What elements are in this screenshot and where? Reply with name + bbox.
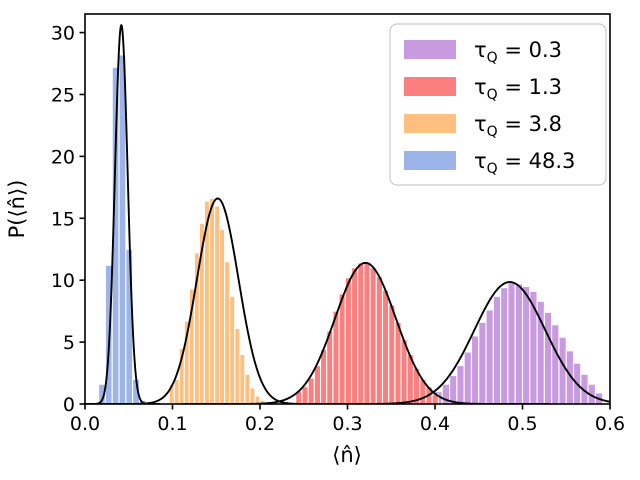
histogram-bar [245, 374, 250, 404]
histogram-bar [339, 294, 345, 404]
histogram-plot: 0.00.10.20.30.40.50.6 051015202530 ⟨n̂⟩ … [0, 0, 640, 480]
histogram-bar [333, 311, 339, 404]
y-axis-label: P(⟨n̂⟩) [5, 180, 29, 239]
histogram-bar [240, 354, 245, 404]
histogram-bar [464, 352, 471, 404]
histogram-bar [358, 263, 364, 404]
histogram-bar [501, 288, 508, 404]
histogram-bar [508, 283, 515, 404]
histogram-bar [523, 286, 530, 404]
histogram-bar [544, 312, 551, 404]
y-tick-label: 0 [63, 394, 75, 416]
histogram-bar [302, 387, 308, 404]
histogram-bar [321, 350, 327, 404]
histogram-bar [479, 322, 486, 404]
x-tick-label: 0.4 [420, 413, 450, 435]
histogram-bar [126, 249, 133, 404]
y-tick-label: 30 [51, 23, 75, 45]
legend-swatch [404, 114, 456, 133]
histogram-bar [230, 296, 235, 404]
histogram-bar [552, 325, 559, 404]
legend[interactable]: τQ = 0.3τQ = 1.3τQ = 3.8τQ = 48.3 [390, 24, 606, 185]
y-tick-label: 5 [63, 332, 75, 354]
x-tick-label: 0.5 [507, 413, 537, 435]
legend-swatch [404, 40, 456, 59]
y-tick-label: 15 [51, 208, 75, 230]
histogram-bar [308, 378, 314, 404]
histogram-bar [220, 229, 225, 404]
x-tick-label: 0.0 [70, 413, 100, 435]
x-tick-label: 0.3 [332, 413, 362, 435]
histogram-bar [486, 310, 493, 404]
y-tick-label: 10 [51, 270, 75, 292]
histogram-bar [225, 262, 230, 404]
histogram-bar [370, 268, 376, 404]
histogram-bar [457, 366, 464, 404]
histogram-bar [376, 276, 382, 404]
histogram-bar [401, 340, 407, 404]
histogram-bar [314, 366, 320, 404]
histogram-bar [450, 376, 457, 404]
x-tick-label: 0.1 [157, 413, 187, 435]
histogram-bar [345, 278, 351, 404]
x-tick-label: 0.6 [595, 413, 625, 435]
histogram-bar [215, 206, 220, 404]
histogram-bar [250, 388, 255, 404]
histogram-bar [559, 337, 566, 404]
histogram-bar [395, 322, 401, 404]
histogram-bar [471, 336, 478, 404]
histogram-bar [174, 379, 179, 404]
histogram-bar [327, 331, 333, 404]
histogram-bar [235, 328, 240, 404]
histogram-bar [364, 263, 370, 404]
histogram-bar [389, 305, 395, 404]
figure-container: 0.00.10.20.30.40.50.6 051015202530 ⟨n̂⟩ … [0, 0, 640, 480]
legend-swatch [404, 151, 456, 170]
x-axis-label: ⟨n̂⟩ [332, 443, 362, 467]
y-tick-label: 20 [51, 146, 75, 168]
x-tick-label: 0.2 [245, 413, 275, 435]
legend-swatch [404, 77, 456, 96]
histogram-bar [515, 284, 522, 404]
histogram-bar [383, 290, 389, 404]
y-tick-label: 25 [51, 84, 75, 106]
histogram-bar [210, 198, 215, 404]
histogram-bar [493, 296, 500, 404]
histogram-bar [352, 268, 358, 404]
